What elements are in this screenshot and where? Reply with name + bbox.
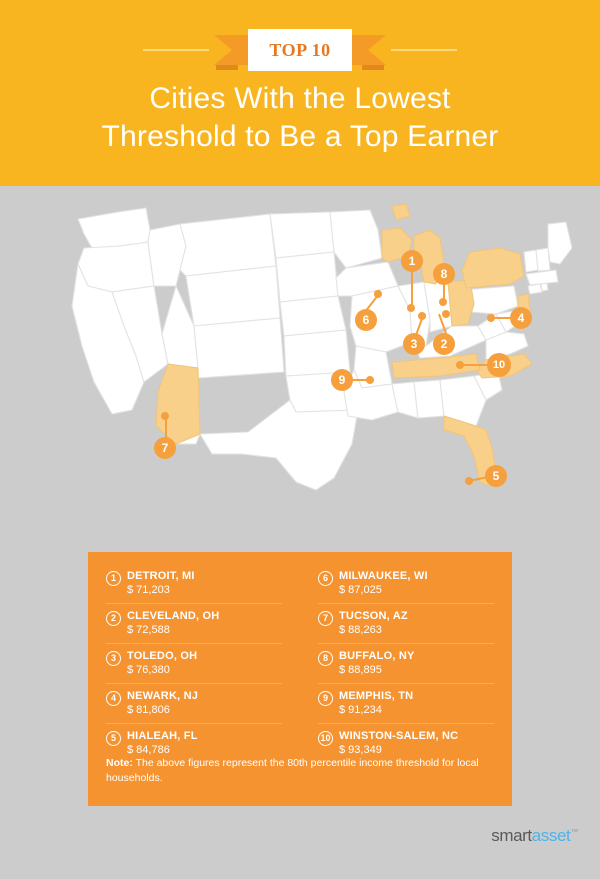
map-marker-8[interactable]: 8 (433, 263, 455, 285)
city-name: MEMPHIS, TN (339, 689, 494, 703)
list-item-text: TUCSON, AZ $ 88,263 (339, 609, 494, 637)
city-amount: $ 81,806 (127, 703, 282, 717)
city-name: DETROIT, MI (127, 569, 282, 583)
rankings-columns: 1 DETROIT, MI $ 71,203 2 CLEVELAND, OH $… (88, 564, 512, 763)
rankings-panel: 1 DETROIT, MI $ 71,203 2 CLEVELAND, OH $… (88, 552, 512, 806)
list-item-text: NEWARK, NJ $ 81,806 (127, 689, 282, 717)
top10-ribbon: TOP 10 (0, 29, 600, 71)
list-item-text: MEMPHIS, TN $ 91,234 (339, 689, 494, 717)
rank-badge: 1 (106, 571, 121, 586)
marker-dot-1 (407, 304, 415, 312)
city-amount: $ 76,380 (127, 663, 282, 677)
map-marker-10[interactable]: 10 (487, 353, 511, 377)
state-newhampshire (536, 248, 550, 271)
state-northdakota (270, 212, 334, 258)
leader-line-10 (461, 364, 489, 366)
rank-badge: 6 (318, 571, 333, 586)
state-tennessee-highlight (392, 354, 480, 378)
city-name: NEWARK, NJ (127, 689, 282, 703)
logo-smart: smart (491, 826, 532, 845)
state-southdakota (276, 252, 338, 302)
list-item[interactable]: 8 BUFFALO, NY $ 88,895 (318, 643, 494, 683)
header-banner: TOP 10 Cities With the Lowest Threshold … (0, 0, 600, 186)
list-item-text: HIALEAH, FL $ 84,786 (127, 729, 282, 757)
ribbon-fold-right (362, 65, 384, 70)
list-item[interactable]: 1 DETROIT, MI $ 71,203 (106, 564, 282, 603)
ribbon-label: TOP 10 (269, 40, 330, 61)
list-item-text: MILWAUKEE, WI $ 87,025 (339, 569, 494, 597)
ribbon-label-box: TOP 10 (248, 29, 352, 71)
marker-dot-8 (439, 298, 447, 306)
logo-asset: asset (532, 826, 571, 845)
state-minnesota (330, 210, 382, 268)
rank-badge: 10 (318, 731, 333, 746)
state-maine (548, 222, 572, 264)
list-item[interactable]: 4 NEWARK, NJ $ 81,806 (106, 683, 282, 723)
marker-dot-6 (374, 290, 382, 298)
note-text: The above figures represent the 80th per… (106, 757, 479, 784)
map-marker-9[interactable]: 9 (331, 369, 353, 391)
rank-badge: 5 (106, 731, 121, 746)
state-newyork-highlight (462, 248, 524, 288)
rank-badge: 8 (318, 651, 333, 666)
map-marker-2[interactable]: 2 (433, 333, 455, 355)
city-amount: $ 88,263 (339, 623, 494, 637)
city-amount: $ 91,234 (339, 703, 494, 717)
list-item-text: DETROIT, MI $ 71,203 (127, 569, 282, 597)
city-name: CLEVELAND, OH (127, 609, 282, 623)
marker-dot-4 (487, 314, 495, 322)
list-item-text: TOLEDO, OH $ 76,380 (127, 649, 282, 677)
map-marker-3[interactable]: 3 (403, 333, 425, 355)
city-name: TUCSON, AZ (339, 609, 494, 623)
state-alabama (414, 380, 444, 418)
list-item[interactable]: 3 TOLEDO, OH $ 76,380 (106, 643, 282, 683)
marker-dot-7 (161, 412, 169, 420)
state-nebraska (280, 296, 346, 336)
smartasset-logo[interactable]: smartasset™ (491, 826, 578, 846)
marker-dot-10 (456, 361, 464, 369)
rank-badge: 9 (318, 691, 333, 706)
marker-dot-3 (418, 312, 426, 320)
map-marker-5[interactable]: 5 (485, 465, 507, 487)
panel-note: Note: The above figures represent the 80… (106, 756, 496, 786)
marker-dot-5 (465, 477, 473, 485)
map-marker-7[interactable]: 7 (154, 437, 176, 459)
state-oregon (78, 242, 154, 292)
list-item-text: BUFFALO, NY $ 88,895 (339, 649, 494, 677)
marker-dot-9 (366, 376, 374, 384)
leader-line-1 (411, 266, 413, 308)
list-item[interactable]: 7 TUCSON, AZ $ 88,263 (318, 603, 494, 643)
state-idaho (148, 224, 186, 286)
city-name: HIALEAH, FL (127, 729, 282, 743)
rankings-column-right: 6 MILWAUKEE, WI $ 87,025 7 TUCSON, AZ $ … (300, 564, 512, 763)
page-title-line2: Threshold to Be a Top Earner (0, 118, 600, 156)
city-amount: $ 88,895 (339, 663, 494, 677)
rank-badge: 3 (106, 651, 121, 666)
city-name: MILWAUKEE, WI (339, 569, 494, 583)
list-item-text: WINSTON-SALEM, NC $ 93,349 (339, 729, 494, 757)
ribbon-fold-left (216, 65, 238, 70)
city-amount: $ 72,588 (127, 623, 282, 637)
city-name: BUFFALO, NY (339, 649, 494, 663)
logo-trademark: ™ (570, 827, 578, 836)
marker-dot-2 (442, 310, 450, 318)
page-title-line1: Cities With the Lowest (0, 80, 600, 118)
us-map: 1 2 3 4 5 6 7 8 9 10 (0, 186, 600, 546)
state-montana (180, 214, 276, 276)
state-texas (200, 400, 358, 490)
list-item[interactable]: 9 MEMPHIS, TN $ 91,234 (318, 683, 494, 723)
state-colorado (194, 318, 284, 378)
note-label: Note: (106, 757, 133, 769)
city-amount: $ 93,349 (339, 743, 494, 757)
state-washington (78, 208, 150, 248)
city-name: WINSTON-SALEM, NC (339, 729, 494, 743)
map-marker-4[interactable]: 4 (510, 307, 532, 329)
rank-badge: 7 (318, 611, 333, 626)
rank-badge: 4 (106, 691, 121, 706)
ribbon-rule-right (391, 49, 457, 51)
state-massachusetts (526, 270, 558, 285)
map-marker-6[interactable]: 6 (355, 309, 377, 331)
page-title: Cities With the Lowest Threshold to Be a… (0, 80, 600, 156)
map-marker-1[interactable]: 1 (401, 250, 423, 272)
list-item-text: CLEVELAND, OH $ 72,588 (127, 609, 282, 637)
ribbon-rule-left (143, 49, 209, 51)
state-arizona-highlight (156, 364, 200, 444)
leader-line-4 (492, 317, 512, 319)
city-name: TOLEDO, OH (127, 649, 282, 663)
rankings-column-left: 1 DETROIT, MI $ 71,203 2 CLEVELAND, OH $… (88, 564, 300, 763)
city-amount: $ 84,786 (127, 743, 282, 757)
rank-badge: 2 (106, 611, 121, 626)
state-wyoming (186, 266, 280, 326)
infographic-page: TOP 10 Cities With the Lowest Threshold … (0, 0, 600, 879)
city-amount: $ 87,025 (339, 583, 494, 597)
list-item[interactable]: 2 CLEVELAND, OH $ 72,588 (106, 603, 282, 643)
city-amount: $ 71,203 (127, 583, 282, 597)
list-item[interactable]: 6 MILWAUKEE, WI $ 87,025 (318, 564, 494, 603)
